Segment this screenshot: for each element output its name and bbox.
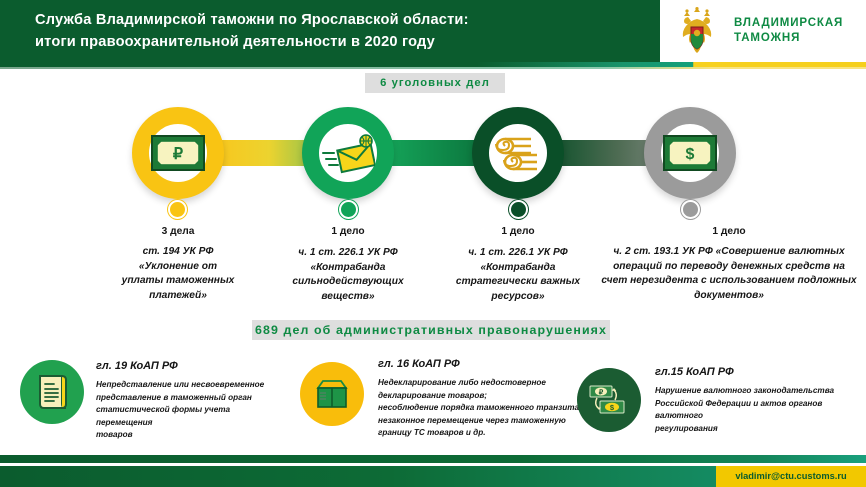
footer-email[interactable]: vladimir@ctu.customs.ru xyxy=(716,466,866,487)
admin-card-2-title: гл. 16 КоАП РФ xyxy=(378,358,593,370)
chain-dot-3 xyxy=(511,202,526,217)
admin-card-2-line-2: декларирование товаров; xyxy=(378,390,593,403)
page-title: Служба Владимирской таможни по Ярославск… xyxy=(35,9,635,53)
logo-text-line-2: ТАМОЖНЯ xyxy=(734,31,843,46)
header-accent-bar-secondary xyxy=(0,67,866,69)
criminal-case-caption-3: 1 дело ч. 1 ст. 226.1 УК РФ «Контрабанда… xyxy=(453,226,583,304)
logo-text: ВЛАДИМИРСКАЯ ТАМОЖНЯ xyxy=(734,16,843,46)
infographic-page: Служба Владимирской таможни по Ярославск… xyxy=(0,0,866,487)
timber-logs-icon xyxy=(491,130,545,176)
admin-card-2-line-3: несоблюдение порядка таможенного транзит… xyxy=(378,402,593,415)
header-banner: Служба Владимирской таможни по Ярославск… xyxy=(0,0,660,62)
admin-card-3-line-3: регулирования xyxy=(655,423,860,436)
criminal-node-envelope xyxy=(302,107,394,199)
case-count-4: 1 дело xyxy=(600,226,858,237)
admin-card-1-title: гл. 19 КоАП РФ xyxy=(96,360,281,372)
admin-card-3-circle: ₽ $ xyxy=(577,368,641,432)
admin-card-1-line-1: Непредставление или несвоевременное xyxy=(96,379,281,392)
case-count-3: 1 дело xyxy=(453,226,583,237)
footer-accent-bar xyxy=(0,455,866,463)
admin-card-1-line-2: представление в таможенный орган xyxy=(96,392,281,405)
admin-card-3-line-2: Российской Федерации и актов органов вал… xyxy=(655,398,860,423)
open-box-icon xyxy=(313,378,351,410)
case-description-2: ч. 1 ст. 226.1 УК РФ «Контрабанда сильно… xyxy=(283,246,413,304)
admin-card-3-body: гл.15 КоАП РФ Нарушение валютного законо… xyxy=(655,366,860,435)
currency-exchange-icon: ₽ $ xyxy=(588,383,630,417)
svg-text:$: $ xyxy=(686,146,695,163)
admin-card-2-line-4: незаконное перемещение через таможенную xyxy=(378,415,593,428)
envelope-mail-icon xyxy=(321,130,375,176)
criminal-case-caption-1: 3 дела ст. 194 УК РФ «Уклонение от уплат… xyxy=(120,226,236,303)
case-description-3: ч. 1 ст. 226.1 УК РФ «Контрабанда страте… xyxy=(453,246,583,304)
admin-card-1-body: гл. 19 КоАП РФ Непредставление или несво… xyxy=(96,360,281,442)
document-scroll-icon xyxy=(34,373,70,411)
criminal-node-dollar-banknote: $ xyxy=(644,107,736,199)
logo-block: ВЛАДИМИРСКАЯ ТАМОЖНЯ xyxy=(660,0,866,62)
chain-dot-2 xyxy=(341,202,356,217)
criminal-case-caption-2: 1 дело ч. 1 ст. 226.1 УК РФ «Контрабанда… xyxy=(283,226,413,304)
admin-card-2-line-1: Недекларирование либо недостоверное xyxy=(378,377,593,390)
admin-card-1-line-3: статистической формы учета перемещения xyxy=(96,404,281,429)
admin-card-3-text: Нарушение валютного законодательства Рос… xyxy=(655,385,860,435)
admin-card-2-circle xyxy=(300,362,364,426)
admin-card-3-line-1: Нарушение валютного законодательства xyxy=(655,385,860,398)
admin-card-1-circle xyxy=(20,360,84,424)
admin-card-2-text: Недекларирование либо недостоверное декл… xyxy=(378,377,593,440)
case-description-4: ч. 2 ст. 193.1 УК РФ «Совершение валютны… xyxy=(600,245,858,303)
admin-card-2-line-5: границу ТС товаров и др. xyxy=(378,427,593,440)
chain-dot-1 xyxy=(170,202,185,217)
page-title-line-2: итоги правоохранительной деятельности в … xyxy=(35,31,635,53)
case-count-2: 1 дело xyxy=(283,226,413,237)
admin-card-1-text: Непредставление или несвоевременное пред… xyxy=(96,379,281,442)
case-description-1: ст. 194 УК РФ «Уклонение от уплаты тамож… xyxy=(120,245,236,303)
admin-card-3-title: гл.15 КоАП РФ xyxy=(655,366,860,378)
page-title-line-1: Служба Владимирской таможни по Ярославск… xyxy=(35,9,635,31)
criminal-node-timber-logs xyxy=(472,107,564,199)
chain-dot-4 xyxy=(683,202,698,217)
admin-card-2-body: гл. 16 КоАП РФ Недекларирование либо нед… xyxy=(378,358,593,440)
criminal-case-caption-4: 1 дело ч. 2 ст. 193.1 УК РФ «Совершение … xyxy=(600,226,858,303)
logo-text-line-1: ВЛАДИМИРСКАЯ xyxy=(734,16,843,31)
svg-text:₽: ₽ xyxy=(173,146,183,163)
double-headed-eagle-emblem-icon xyxy=(674,7,720,55)
svg-text:₽: ₽ xyxy=(599,389,604,397)
admin-card-1-line-4: товаров xyxy=(96,429,281,442)
dollar-banknote-icon: $ xyxy=(663,130,717,176)
criminal-node-ruble-banknote: ₽ xyxy=(132,107,224,199)
administrative-cases-banner: 689 дел об административных правонарушен… xyxy=(252,320,610,340)
ruble-banknote-icon: ₽ xyxy=(151,130,205,176)
case-count-1: 3 дела xyxy=(120,226,236,237)
criminal-cases-banner: 6 уголовных дел xyxy=(365,73,505,93)
